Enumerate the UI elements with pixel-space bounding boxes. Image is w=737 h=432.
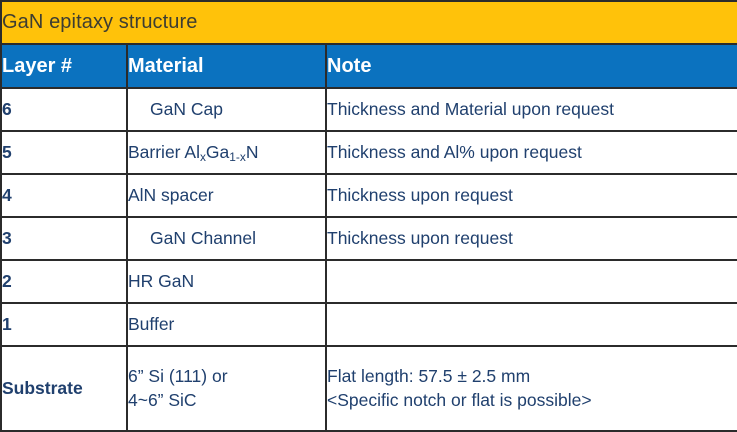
cell-material: Buffer xyxy=(127,303,326,346)
material-text-mid: Ga xyxy=(206,142,229,162)
material-subscript-2: 1-x xyxy=(229,150,246,164)
table-header-row: Layer # Material Note xyxy=(1,44,737,88)
cell-material: HR GaN xyxy=(127,260,326,303)
cell-layer-number: 1 xyxy=(1,303,127,346)
table-row: 4 AlN spacer Thickness upon request xyxy=(1,174,737,217)
cell-note-substrate: Flat length: 57.5 ± 2.5 mm <Specific not… xyxy=(326,346,737,431)
cell-layer-number: 4 xyxy=(1,174,127,217)
cell-note: Thickness upon request xyxy=(326,174,737,217)
material-subscript-1: x xyxy=(200,150,206,164)
column-header-note: Note xyxy=(326,44,737,88)
material-text: Barrier Al xyxy=(128,142,200,162)
gan-epitaxy-table-container: GaN epitaxy structure Layer # Material N… xyxy=(0,0,737,430)
material-text: AlN spacer xyxy=(128,185,214,205)
cell-material-substrate: 6” Si (111) or 4~6” SiC xyxy=(127,346,326,431)
table-row: 1 Buffer xyxy=(1,303,737,346)
cell-layer-number: 2 xyxy=(1,260,127,303)
cell-note: Thickness upon request xyxy=(326,217,737,260)
material-text: GaN Cap xyxy=(150,99,223,119)
table-row: 2 HR GaN xyxy=(1,260,737,303)
cell-note: Thickness and Material upon request xyxy=(326,88,737,131)
material-text: GaN Channel xyxy=(150,228,256,248)
material-text: Buffer xyxy=(128,314,174,334)
column-header-layer: Layer # xyxy=(1,44,127,88)
cell-material: Barrier AlxGa1-xN xyxy=(127,131,326,174)
cell-layer-number: 3 xyxy=(1,217,127,260)
cell-layer-number: 5 xyxy=(1,131,127,174)
table-row: 5 Barrier AlxGa1-xN Thickness and Al% up… xyxy=(1,131,737,174)
cell-note: Thickness and Al% upon request xyxy=(326,131,737,174)
table-row: 3 GaN Channel Thickness upon request xyxy=(1,217,737,260)
table-row: 6 GaN Cap Thickness and Material upon re… xyxy=(1,88,737,131)
cell-material: GaN Channel xyxy=(127,217,326,260)
cell-material: AlN spacer xyxy=(127,174,326,217)
table-title-row: GaN epitaxy structure xyxy=(1,1,737,44)
gan-epitaxy-table: GaN epitaxy structure Layer # Material N… xyxy=(0,0,737,432)
material-text-suffix: N xyxy=(246,142,259,162)
cell-note xyxy=(326,260,737,303)
column-header-material: Material xyxy=(127,44,326,88)
cell-material: GaN Cap xyxy=(127,88,326,131)
cell-layer-substrate: Substrate xyxy=(1,346,127,431)
table-title: GaN epitaxy structure xyxy=(1,1,737,44)
cell-note xyxy=(326,303,737,346)
material-text: HR GaN xyxy=(128,271,194,291)
cell-layer-number: 6 xyxy=(1,88,127,131)
table-row-substrate: Substrate 6” Si (111) or 4~6” SiC Flat l… xyxy=(1,346,737,431)
